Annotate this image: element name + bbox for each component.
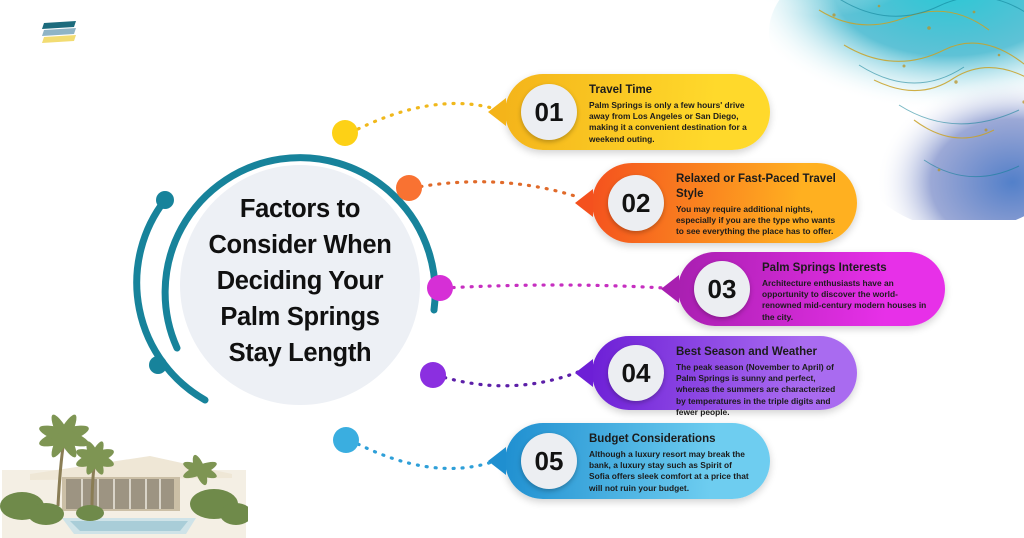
factor-card-04[interactable]: 04 Best Season and Weather The peak seas… xyxy=(592,336,857,410)
card-title-05: Budget Considerations xyxy=(589,432,754,447)
infographic-canvas: Factors to Consider When Deciding Your P… xyxy=(0,0,1024,538)
card-number-02: 02 xyxy=(608,175,664,231)
card-number-05: 05 xyxy=(521,433,577,489)
card-pointer-05 xyxy=(488,447,506,475)
title-line: Factors to xyxy=(166,191,434,227)
title-line: Deciding Your xyxy=(166,263,434,299)
factor-card-02[interactable]: 02 Relaxed or Fast-Paced Travel Style Yo… xyxy=(592,163,857,243)
card-pointer-03 xyxy=(661,275,679,303)
factor-card-01[interactable]: 01 Travel Time Palm Springs is only a fe… xyxy=(505,74,770,150)
title-line: Stay Length xyxy=(166,335,434,371)
card-pointer-02 xyxy=(575,189,593,217)
card-title-04: Best Season and Weather xyxy=(676,345,841,360)
card-title-03: Palm Springs Interests xyxy=(762,261,929,276)
card-number-04: 04 xyxy=(608,345,664,401)
central-hub: Factors to Consider When Deciding Your P… xyxy=(150,135,450,435)
page-title: Factors to Consider When Deciding Your P… xyxy=(166,191,434,371)
card-pointer-01 xyxy=(488,98,506,126)
card-title-01: Travel Time xyxy=(589,83,754,98)
card-number-01: 01 xyxy=(521,84,577,140)
card-text-02: You may require additional nights, espec… xyxy=(676,204,841,238)
card-pointer-04 xyxy=(575,359,593,387)
card-text-05: Although a luxury resort may break the b… xyxy=(589,449,754,494)
card-number-03: 03 xyxy=(694,261,750,317)
card-title-02: Relaxed or Fast-Paced Travel Style xyxy=(676,172,841,202)
card-text-04: The peak season (November to April) of P… xyxy=(676,362,841,418)
stacked-bars-logo[interactable] xyxy=(38,18,80,46)
title-line: Consider When xyxy=(166,227,434,263)
factor-card-03[interactable]: 03 Palm Springs Interests Architecture e… xyxy=(678,252,945,326)
card-text-01: Palm Springs is only a few hours' drive … xyxy=(589,100,754,145)
title-line: Palm Springs xyxy=(166,299,434,335)
factor-card-05[interactable]: 05 Budget Considerations Although a luxu… xyxy=(505,423,770,499)
card-text-03: Architecture enthusiasts have an opportu… xyxy=(762,278,929,323)
